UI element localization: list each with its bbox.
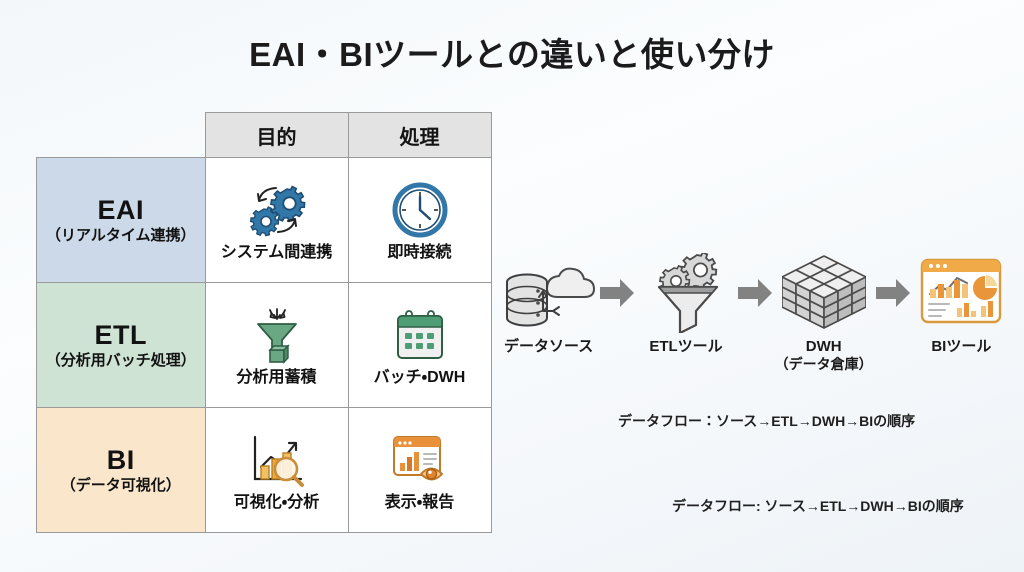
caption-data-flow-primary: データフロー：ソース→ETL→DWH→BIの順序	[618, 411, 915, 431]
slide-canvas: EAI・BIツールとの違いと使い分け 目的 処理 EAI （リアルタイム連携）	[0, 0, 1024, 572]
funnel-icon	[248, 304, 306, 366]
matrix-row-eai: EAI （リアルタイム連携）	[37, 158, 492, 283]
matrix-corner-cell	[37, 113, 206, 158]
matrix-header-purpose: 目的	[205, 113, 348, 158]
funnel-gears-icon	[643, 252, 729, 334]
row-label-eai: EAI （リアルタイム連携）	[37, 158, 206, 283]
cell-bi-process: 表示・報告	[348, 408, 491, 533]
matrix-row-bi: BI （データ可視化）	[37, 408, 492, 533]
flow-label-text: データソース	[504, 338, 593, 355]
caption-data-flow-secondary: データフロー: ソース→ETL→DWH→BIの順序	[672, 496, 964, 516]
gears-sync-icon	[246, 179, 308, 241]
flow-label-dwh: DWH （データ倉庫）	[775, 338, 873, 373]
page-title: EAI・BIツールとの違いと使い分け	[0, 28, 1024, 76]
cell-label-eai-purpose: システム間連携	[221, 244, 333, 262]
comparison-matrix: 目的 処理 EAI （リアルタイム連携）	[36, 112, 492, 533]
cell-bi-purpose: 可視化・分析	[205, 408, 348, 533]
row-abbr-etl: ETL	[37, 320, 205, 351]
flow-step-data-source: データソース	[500, 252, 597, 356]
row-abbr-eai: EAI	[37, 195, 205, 226]
row-sub-eai: （リアルタイム連携）	[37, 227, 205, 245]
cell-label-etl-purpose: 分析用蓄積	[236, 369, 316, 387]
cell-label-etl-process: バッチ・DWH	[374, 369, 466, 387]
row-sub-etl: （分析用バッチ処理）	[37, 352, 205, 370]
row-label-etl: ETL （分析用バッチ処理）	[37, 283, 206, 408]
bi-dashboard-icon	[919, 252, 1003, 334]
flow-sublabel-dwh: （データ倉庫）	[775, 356, 873, 373]
arrow-right-icon	[735, 252, 775, 334]
cell-eai-process: 即時接続	[348, 158, 491, 283]
data-flow-diagram: データソース	[500, 252, 1010, 372]
cell-label-eai-process: 即時接続	[387, 244, 451, 262]
cell-label-bi-process: 表示・報告	[385, 494, 454, 512]
dashboard-eye-icon	[388, 429, 452, 491]
flow-label-text: BIツール	[931, 338, 991, 355]
row-abbr-bi: BI	[37, 445, 205, 476]
calendar-icon	[391, 304, 449, 366]
flow-step-bi-tool: BIツール	[913, 252, 1010, 356]
cell-label-bi-purpose: 可視化・分析	[234, 494, 319, 512]
database-cloud-icon	[501, 252, 597, 334]
flow-step-etl-tool: ETLツール	[637, 252, 734, 356]
clock-icon	[391, 179, 449, 241]
arrow-right-icon	[597, 252, 637, 334]
row-sub-bi: （データ可視化）	[37, 477, 205, 495]
cell-eai-purpose: システム間連携	[205, 158, 348, 283]
matrix-header-process: 処理	[348, 113, 491, 158]
flow-label-etl-tool: ETLツール	[649, 338, 722, 356]
arrow-right-icon	[873, 252, 913, 334]
flow-label-bi-tool: BIツール	[931, 338, 991, 356]
cube-icon	[782, 252, 866, 334]
row-label-bi: BI （データ可視化）	[37, 408, 206, 533]
cell-etl-process: バッチ・DWH	[348, 283, 491, 408]
flow-label-text: ETLツール	[649, 338, 722, 355]
matrix-row-etl: ETL （分析用バッチ処理）	[37, 283, 492, 408]
flow-label-data-source: データソース	[504, 338, 593, 356]
flow-step-dwh: DWH （データ倉庫）	[775, 252, 873, 373]
matrix-header-row: 目的 処理	[37, 113, 492, 158]
flow-label-text: DWH	[806, 338, 842, 355]
chart-magnifier-icon	[246, 429, 308, 491]
cell-etl-purpose: 分析用蓄積	[205, 283, 348, 408]
